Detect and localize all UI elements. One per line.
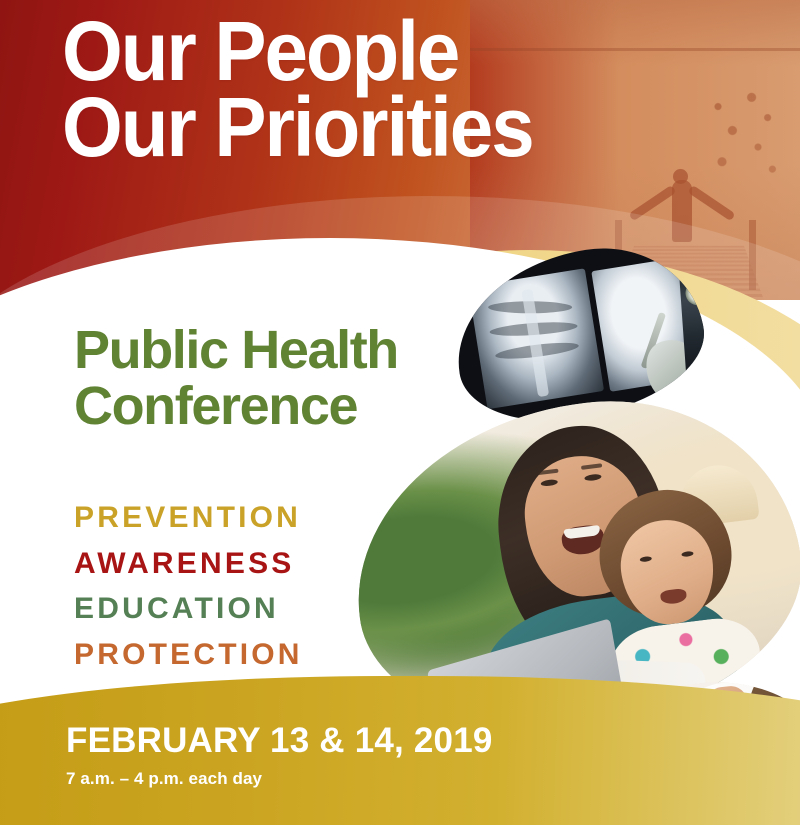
- keyword-education: EDUCATION: [74, 586, 303, 632]
- poster-headline: Our People Our Priorities: [62, 14, 568, 165]
- event-time: 7 a.m. – 4 p.m. each day: [66, 769, 493, 789]
- public-health-conference-poster: Our People Our Priorities: [0, 0, 800, 825]
- headline-line-2: Our Priorities: [62, 90, 533, 166]
- event-date-block: FEBRUARY 13 & 14, 2019 7 a.m. – 4 p.m. e…: [66, 722, 493, 789]
- silhouette-figure-head: [673, 169, 688, 184]
- branch-foliage: [702, 90, 782, 182]
- keyword-list: PREVENTION AWARENESS EDUCATION PROTECTIO…: [74, 495, 303, 677]
- keyword-protection: PROTECTION: [74, 632, 303, 678]
- event-date: FEBRUARY 13 & 14, 2019: [66, 722, 493, 760]
- keyword-awareness: AWARENESS: [74, 541, 303, 587]
- keyword-prevention: PREVENTION: [74, 495, 303, 541]
- conference-title-line-2: Conference: [74, 378, 398, 434]
- conference-title: Public Health Conference: [74, 322, 398, 434]
- headline-line-1: Our People: [62, 14, 533, 90]
- conference-title-line-1: Public Health: [74, 320, 398, 380]
